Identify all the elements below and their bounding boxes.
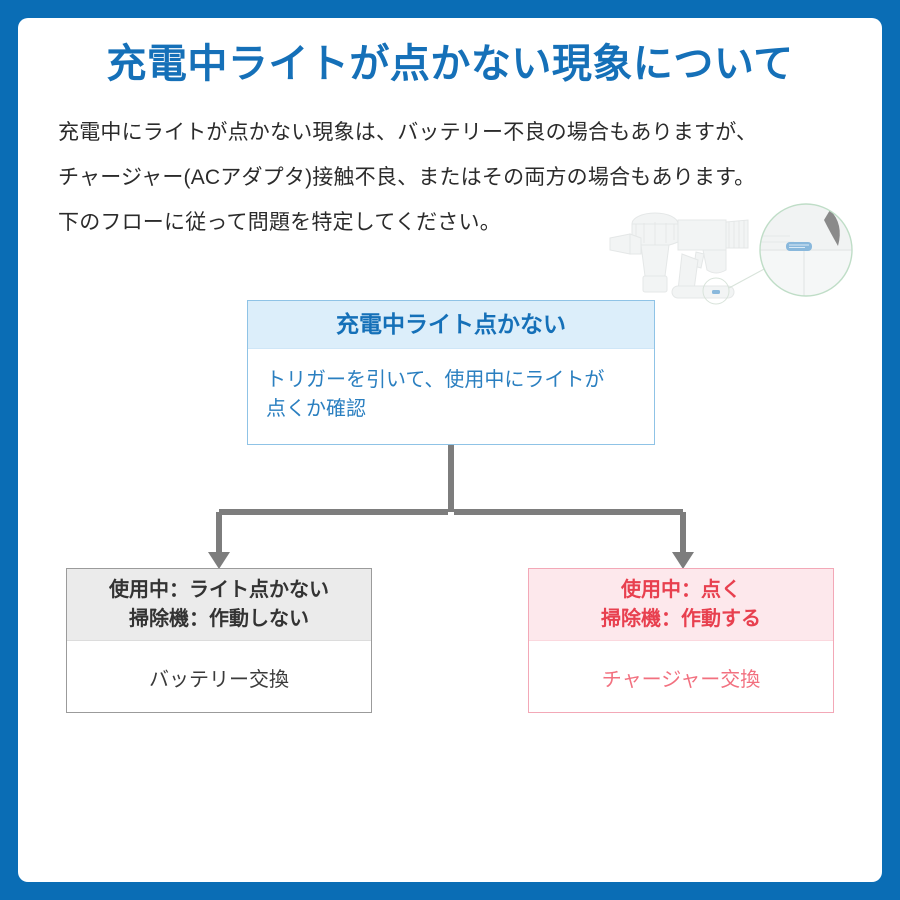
flow-node-start-body: トリガーを引いて、使用中にライトが 点くか確認 — [248, 349, 654, 424]
flow-node-charger-heading-line-2: 掃除機：作動する — [601, 605, 761, 634]
flow-node-charger-heading: 使用中：点く 掃除機：作動する — [529, 569, 833, 641]
flow-node-start-heading: 充電中ライト点かない — [248, 301, 654, 349]
flow-node-battery-heading-line-1: 使用中：ライト点かない — [109, 576, 329, 605]
flow-node-start-body-line-2: 点くか確認 — [266, 395, 636, 424]
flow-node-start[interactable]: 充電中ライト点かない トリガーを引いて、使用中にライトが 点くか確認 — [247, 300, 655, 445]
flow-node-charger-body: チャージャー交換 — [529, 641, 833, 695]
content-panel: 充電中ライトが点かない現象について 充電中にライトが点かない現象は、バッテリー不… — [18, 18, 882, 882]
flow-node-charger[interactable]: 使用中：点く 掃除機：作動する チャージャー交換 — [528, 568, 834, 713]
flow-node-battery-heading: 使用中：ライト点かない 掃除機：作動しない — [67, 569, 371, 641]
page-root: 充電中ライトが点かない現象について 充電中にライトが点かない現象は、バッテリー不… — [0, 0, 900, 900]
flow-node-start-body-line-1: トリガーを引いて、使用中にライトが — [266, 366, 636, 395]
flow-node-start-heading-text: 充電中ライト点かない — [336, 308, 566, 341]
cordless-vacuum-illustration — [608, 198, 858, 308]
page-title: 充電中ライトが点かない現象について — [18, 42, 882, 86]
flow-node-battery-body: バッテリー交換 — [67, 641, 371, 695]
intro-line-2: チャージャー(ACアダプタ)接触不良、またはその両方の場合もあります。 — [58, 155, 858, 200]
intro-line-1: 充電中にライトが点かない現象は、バッテリー不良の場合もありますが、 — [58, 110, 858, 155]
flow-node-battery-heading-line-2: 掃除機：作動しない — [129, 605, 309, 634]
flow-node-charger-heading-line-1: 使用中：点く — [621, 576, 741, 605]
flow-node-battery[interactable]: 使用中：ライト点かない 掃除機：作動しない バッテリー交換 — [66, 568, 372, 713]
